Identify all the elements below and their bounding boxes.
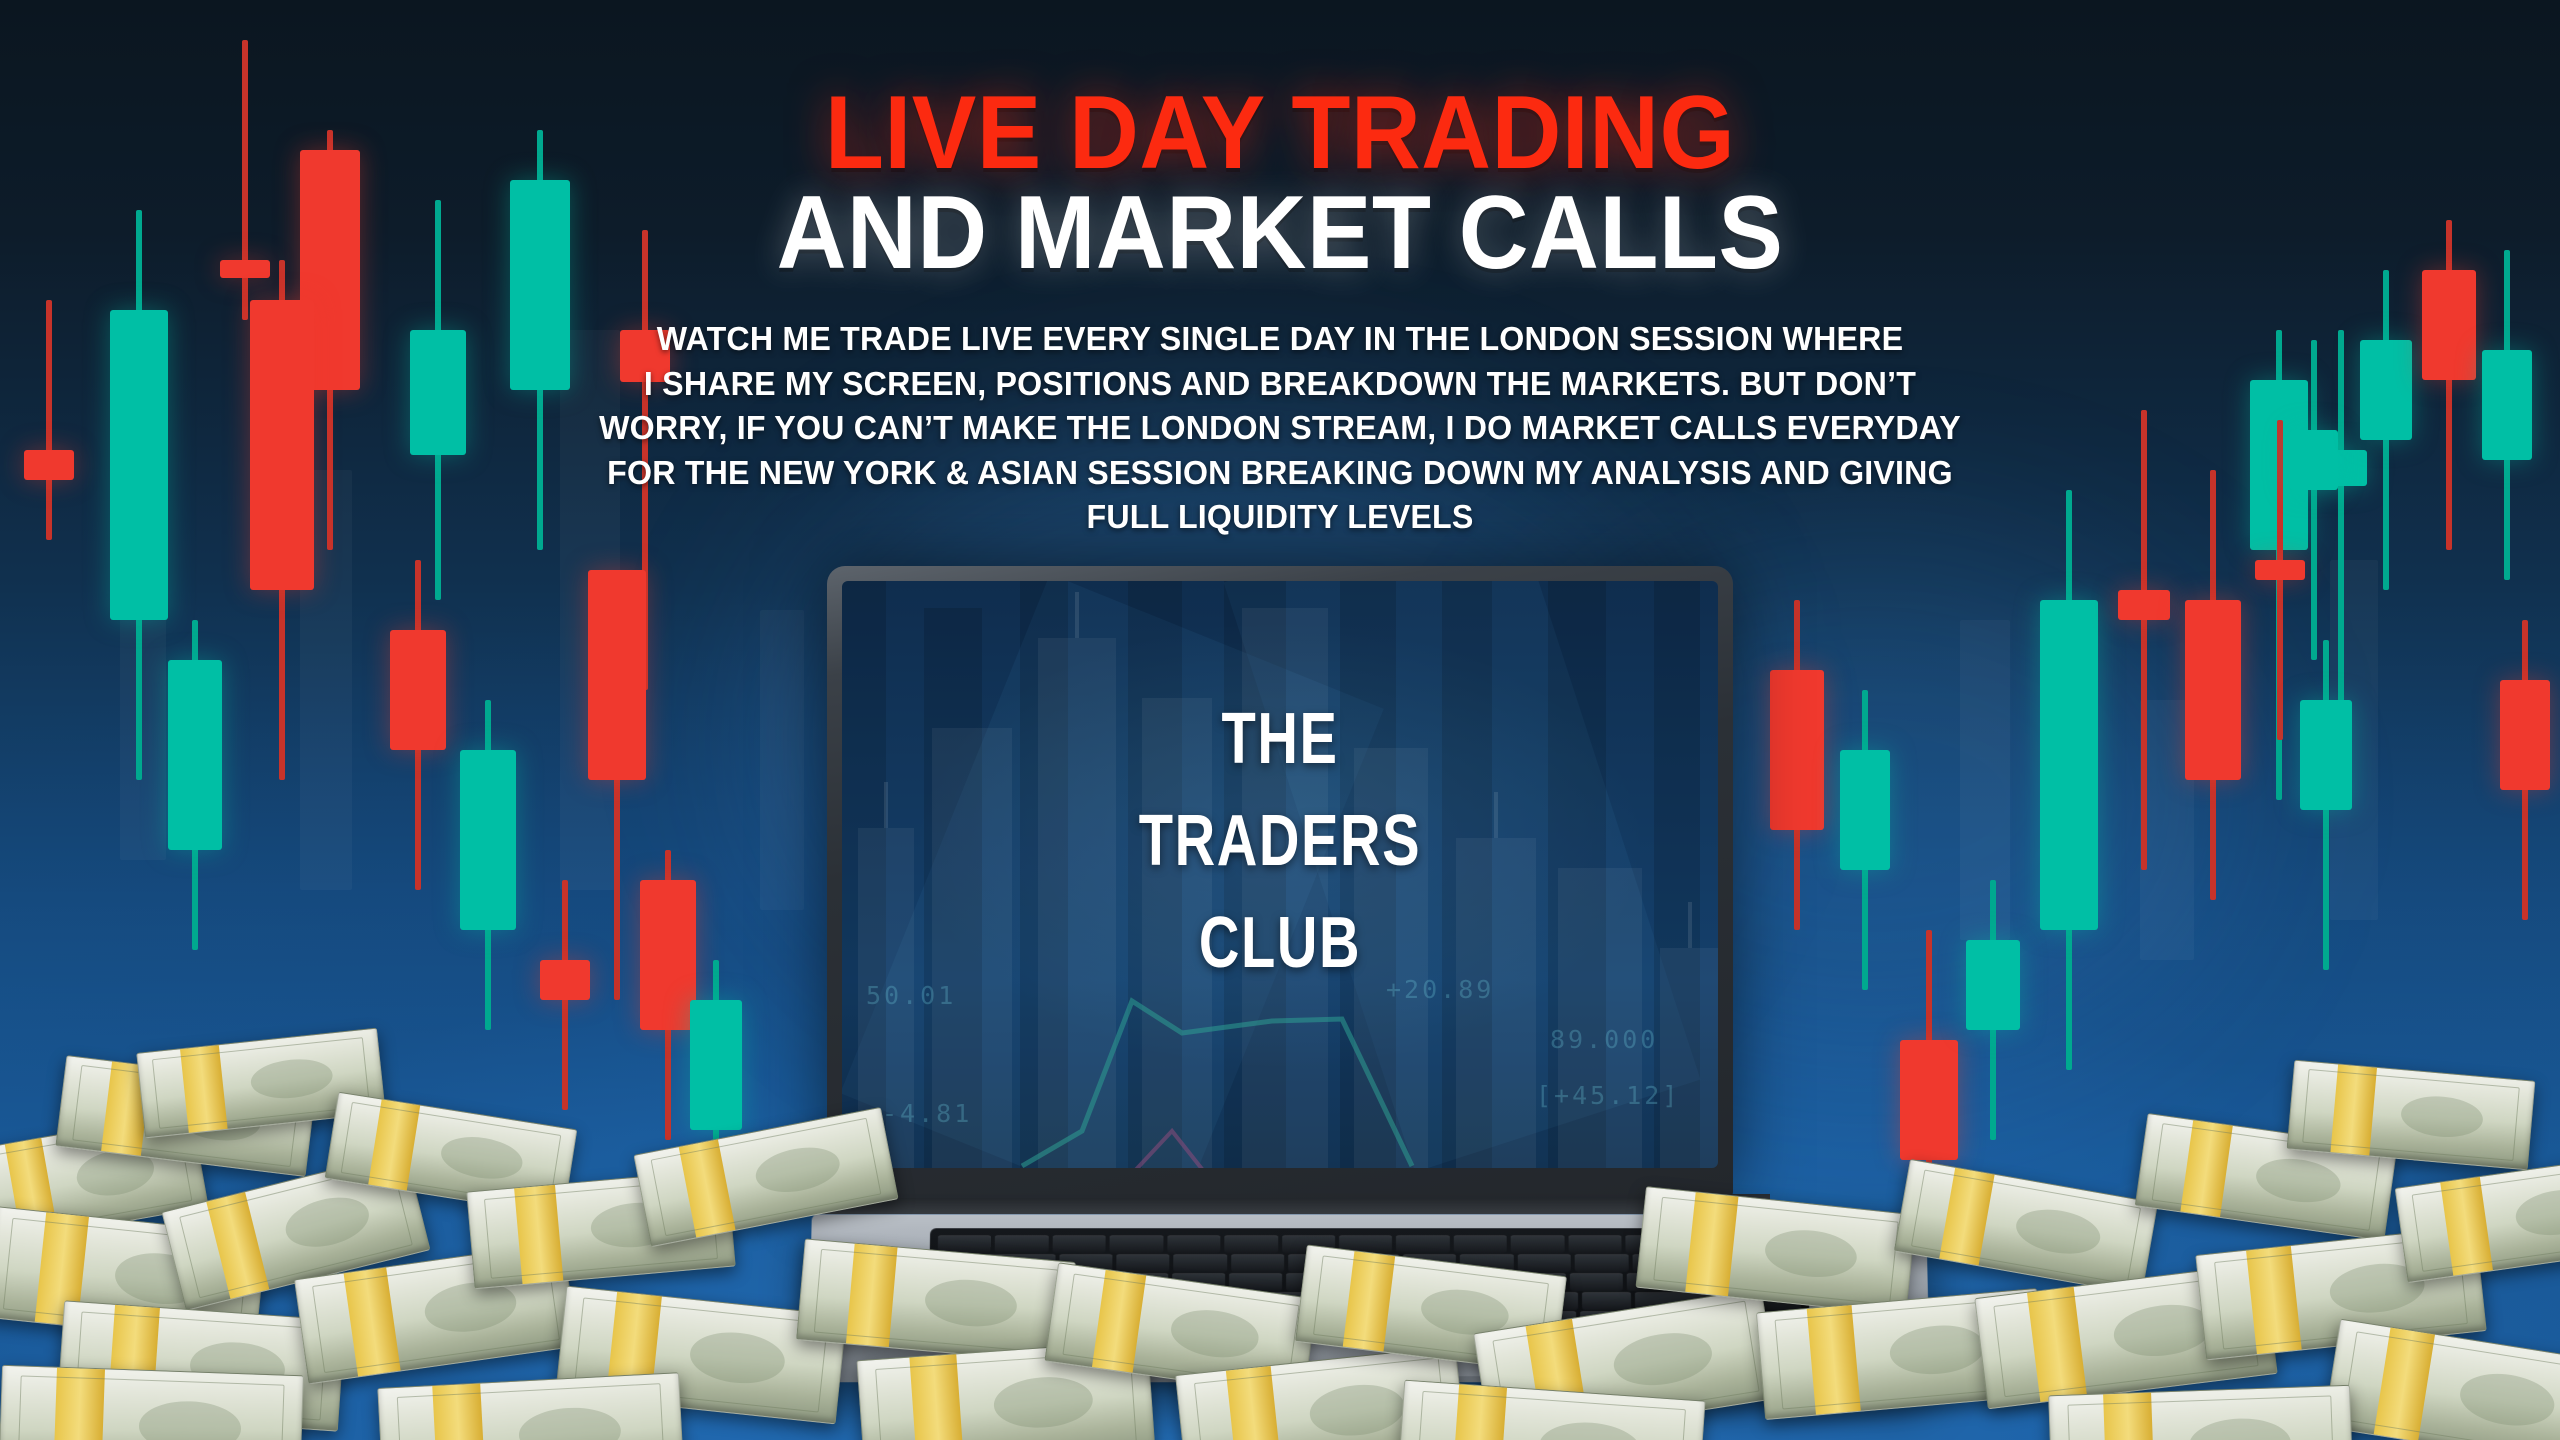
keyboard-row	[936, 1311, 1801, 1329]
logo-line-traders: TRADERS	[938, 805, 1621, 877]
candle-up	[2360, 270, 2412, 590]
ticker-value-5: [+45.12]	[1536, 1081, 1680, 1110]
laptop-base	[808, 1214, 1930, 1382]
laptop-trackpad[interactable]	[1153, 1340, 1584, 1376]
keyboard-row	[937, 1273, 1801, 1291]
headline-line-1: LIVE DAY TRADING	[90, 86, 2471, 182]
laptop-mockup: 50.01 -4.81 +20.89 89.000 [+45.12] THE T…	[810, 566, 1750, 1382]
description-line: WORRY, IF YOU CAN’T MAKE THE LONDON STRE…	[531, 407, 2029, 452]
candle-up	[460, 700, 516, 1030]
candle-up	[2482, 250, 2532, 580]
ghost-bar	[760, 610, 804, 910]
ticker-value-2: -4.81	[882, 1099, 972, 1128]
candle-down	[588, 570, 646, 1000]
headline-line-2: AND MARKET CALLS	[90, 186, 2471, 282]
candle-up	[690, 960, 742, 1190]
candle-up	[168, 620, 222, 950]
candle-up	[1966, 880, 2020, 1140]
traders-club-logo: THE TRADERS CLUB	[842, 703, 1718, 979]
candle-up	[2300, 640, 2352, 970]
keyboard-row	[938, 1235, 1800, 1253]
candle-up	[1840, 690, 1890, 990]
keyboard-row	[937, 1254, 1800, 1272]
description-line: WATCH ME TRADE LIVE EVERY SINGLE DAY IN …	[531, 318, 2029, 363]
description-line: I SHARE MY SCREEN, POSITIONS AND BREAKDO…	[531, 363, 2029, 408]
ticker-value-4: 89.000	[1550, 1025, 1658, 1054]
candle-down	[540, 880, 590, 1110]
candle-down	[24, 300, 74, 540]
ticker-value-3: +20.89	[1386, 975, 1494, 1004]
laptop-lid: 50.01 -4.81 +20.89 89.000 [+45.12] THE T…	[827, 566, 1733, 1198]
candle-down	[390, 560, 446, 890]
candle-down	[250, 260, 314, 780]
candle-down	[1770, 600, 1824, 930]
logo-line-club: CLUB	[938, 907, 1621, 979]
description-line: FOR THE NEW YORK & ASIAN SESSION BREAKIN…	[531, 452, 2029, 497]
laptop-screen: 50.01 -4.81 +20.89 89.000 [+45.12] THE T…	[842, 581, 1718, 1168]
candle-down	[640, 850, 696, 1140]
candle-up	[110, 210, 168, 780]
headline-block: LIVE DAY TRADING AND MARKET CALLS	[0, 86, 2560, 281]
candle-down	[1900, 930, 1958, 1230]
description-paragraph: WATCH ME TRADE LIVE EVERY SINGLE DAY IN …	[500, 318, 2060, 541]
sparkline-magenta	[1092, 1011, 1512, 1168]
description-line: FULL LIQUIDITY LEVELS	[531, 496, 2029, 541]
laptop-keyboard[interactable]	[928, 1228, 1809, 1336]
candle-up	[2040, 490, 2098, 1070]
keyboard-row	[937, 1292, 1801, 1310]
candle-down	[2118, 410, 2170, 870]
candle-up	[2290, 340, 2338, 660]
promo-banner: LIVE DAY TRADING AND MARKET CALLS WATCH …	[0, 0, 2560, 1440]
ticker-value-1: 50.01	[866, 981, 956, 1010]
candle-down	[2185, 470, 2241, 900]
candle-down	[2500, 620, 2550, 920]
logo-line-the: THE	[938, 703, 1621, 775]
